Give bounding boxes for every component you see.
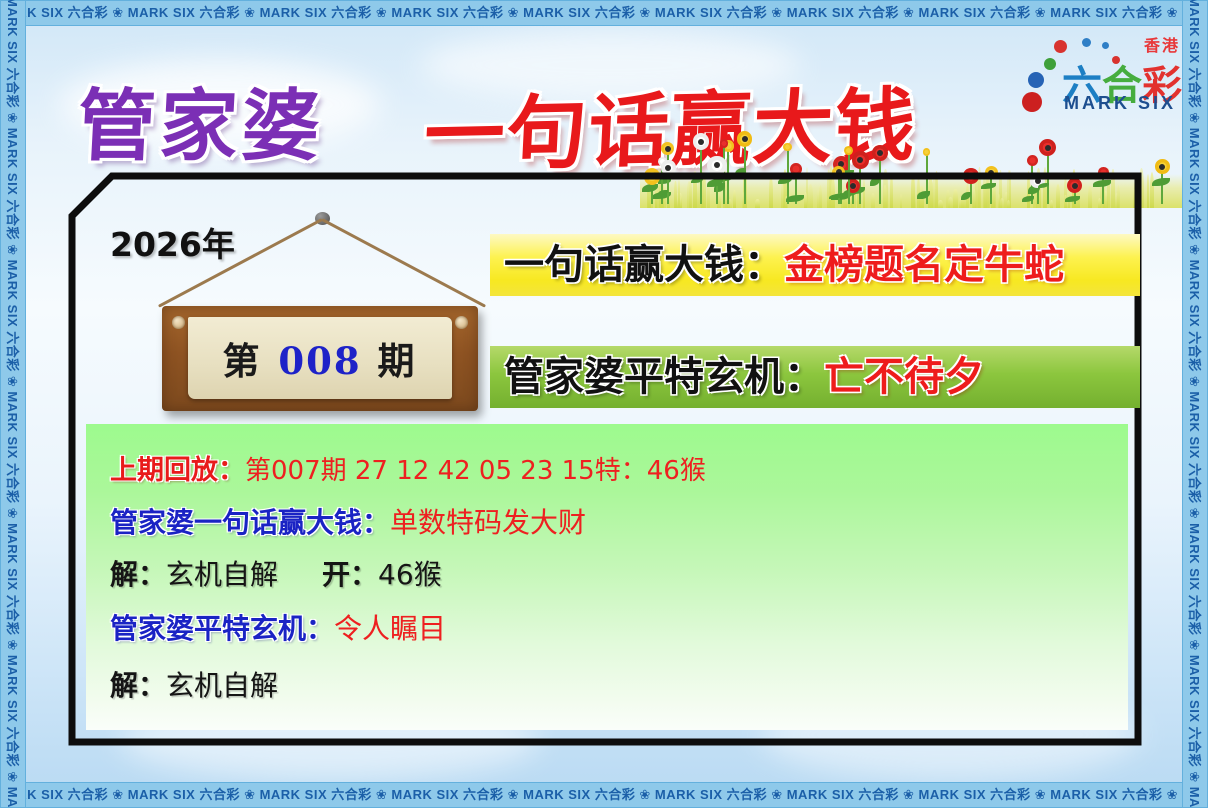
grass-blade xyxy=(1147,174,1149,208)
row-head: 上期回放： xyxy=(110,455,245,486)
row-value: 单数特码发大财 xyxy=(390,506,586,539)
grass-blade xyxy=(687,181,692,208)
issue-plaque: 第 008 期 xyxy=(150,198,490,413)
issue-text: 第 008 期 xyxy=(188,331,452,385)
grass-blade xyxy=(733,190,736,208)
border-band-bottom: MARK SIX 六合彩 ❀ MARK SIX 六合彩 ❀ MARK SIX 六… xyxy=(0,782,1208,808)
wooden-board: 第 008 期 xyxy=(162,306,478,411)
issue-suffix: 期 xyxy=(378,339,418,383)
flower-head xyxy=(923,148,931,156)
grass-blade xyxy=(1139,168,1144,208)
flower-head xyxy=(963,168,979,184)
flower-head xyxy=(832,166,845,179)
flower-head xyxy=(1027,155,1039,167)
row-value: 第007期 27 12 42 05 23 15特：46猴 xyxy=(245,456,706,486)
border-band-top: MARK SIX 六合彩 ❀ MARK SIX 六合彩 ❀ MARK SIX 六… xyxy=(0,0,1208,26)
grass-blade xyxy=(1050,200,1053,208)
panel-row-phrase: 管家婆一句话赢大钱：单数特码发大财 xyxy=(110,501,586,541)
grass-blade xyxy=(808,184,813,208)
grass-blade xyxy=(678,180,680,208)
grass-blade xyxy=(863,179,865,208)
row-value: 令人瞩目 xyxy=(334,612,446,645)
border-tile-text: MARK SIX 六合彩 ❀ MARK SIX 六合彩 ❀ MARK SIX 六… xyxy=(1185,0,1203,808)
row-head: 管家婆平特玄机： xyxy=(110,612,334,645)
grass-blade xyxy=(953,189,957,208)
flower-head xyxy=(644,168,660,184)
grass-blade xyxy=(1088,186,1092,208)
poster-canvas: MARK SIX 六合彩 ❀ MARK SIX 六合彩 ❀ MARK SIX 六… xyxy=(0,0,1208,808)
flower-stem xyxy=(700,144,702,204)
grass-blade xyxy=(781,182,784,208)
flower-head xyxy=(1098,167,1108,177)
panel-row-answer-1: 解：玄机自解开：46猴 xyxy=(110,553,442,593)
row-extra-head: 开： xyxy=(322,558,378,591)
flower-head xyxy=(872,145,888,161)
flower-head xyxy=(985,166,998,179)
brand-title: 管家婆 xyxy=(75,64,327,176)
issue-prefix: 第 xyxy=(222,339,262,383)
row-extra-value: 46猴 xyxy=(378,558,442,591)
border-tile-text: MARK SIX 六合彩 ❀ MARK SIX 六合彩 ❀ MARK SIX 六… xyxy=(0,4,1208,22)
panel-row-replay: 上期回放：第007期 27 12 42 05 23 15特：46猴 xyxy=(110,448,706,487)
row-head: 解： xyxy=(110,669,166,702)
flower-stem xyxy=(787,145,789,204)
grass-blade xyxy=(900,194,902,208)
banner-secondary-tip: 管家婆平特玄机：亡不待夕 xyxy=(490,346,1140,408)
flower-head xyxy=(661,142,674,155)
grass-blade xyxy=(932,179,936,208)
flower-head xyxy=(844,146,853,155)
grass-blade xyxy=(938,200,943,209)
flower-head xyxy=(1155,159,1170,174)
grass-blade xyxy=(769,177,773,208)
flower-head xyxy=(783,143,792,152)
issue-number: 008 xyxy=(278,339,361,383)
banner-main-tip: 一句话赢大钱：金榜题名定牛蛇 xyxy=(490,234,1140,296)
banner-label: 一句话赢大钱： xyxy=(504,242,784,288)
grass-blade xyxy=(911,174,915,208)
grass-blade xyxy=(755,199,759,208)
flower-stem xyxy=(848,149,850,204)
grass-blade xyxy=(831,178,834,208)
grass-blade xyxy=(817,190,819,208)
grass-blade xyxy=(804,192,807,208)
info-panel: 上期回放：第007期 27 12 42 05 23 15特：46猴 管家婆一句话… xyxy=(86,424,1128,730)
banner-value: 亡不待夕 xyxy=(824,354,984,400)
flower-stem xyxy=(1047,150,1049,204)
border-tile-text: MARK SIX 六合彩 ❀ MARK SIX 六合彩 ❀ MARK SIX 六… xyxy=(0,786,1208,804)
grass-blade xyxy=(998,194,1000,209)
flower-head xyxy=(693,133,710,150)
flower-head xyxy=(1039,139,1056,156)
logo-english: MARK SIX xyxy=(1064,93,1176,114)
border-band-right: MARK SIX 六合彩 ❀ MARK SIX 六合彩 ❀ MARK SIX 六… xyxy=(1182,0,1208,808)
grass-blade xyxy=(693,171,697,208)
row-value: 玄机自解 xyxy=(166,558,278,591)
flower-head xyxy=(790,163,802,175)
flower-head xyxy=(720,139,728,147)
row-head: 管家婆一句话赢大钱： xyxy=(110,506,390,539)
banner-value: 金榜题名定牛蛇 xyxy=(784,242,1064,288)
mark-six-logo: 香港 六合彩 MARK SIX xyxy=(1010,30,1182,118)
rope-left xyxy=(158,218,323,308)
rope-right xyxy=(321,218,486,308)
row-head: 解： xyxy=(110,558,166,591)
flower-head xyxy=(661,160,675,174)
grass-blade xyxy=(948,197,953,208)
grass-blade xyxy=(871,193,875,208)
flower-grass-decor xyxy=(640,128,1182,208)
grass-blade xyxy=(1098,198,1102,208)
grass-blade xyxy=(890,174,893,208)
row-value: 玄机自解 xyxy=(166,669,278,702)
grass-blade xyxy=(1117,185,1120,208)
panel-row-special: 管家婆平特玄机：令人瞩目 xyxy=(110,607,446,647)
grass-blade xyxy=(883,185,887,208)
flower-head xyxy=(852,151,870,169)
banner-label: 管家婆平特玄机： xyxy=(504,354,824,400)
grass-blade xyxy=(1007,200,1010,208)
paper-label: 第 008 期 xyxy=(188,317,452,399)
panel-row-answer-2: 解：玄机自解 xyxy=(110,664,278,704)
flower-head xyxy=(737,131,752,146)
flower-head xyxy=(707,156,727,176)
